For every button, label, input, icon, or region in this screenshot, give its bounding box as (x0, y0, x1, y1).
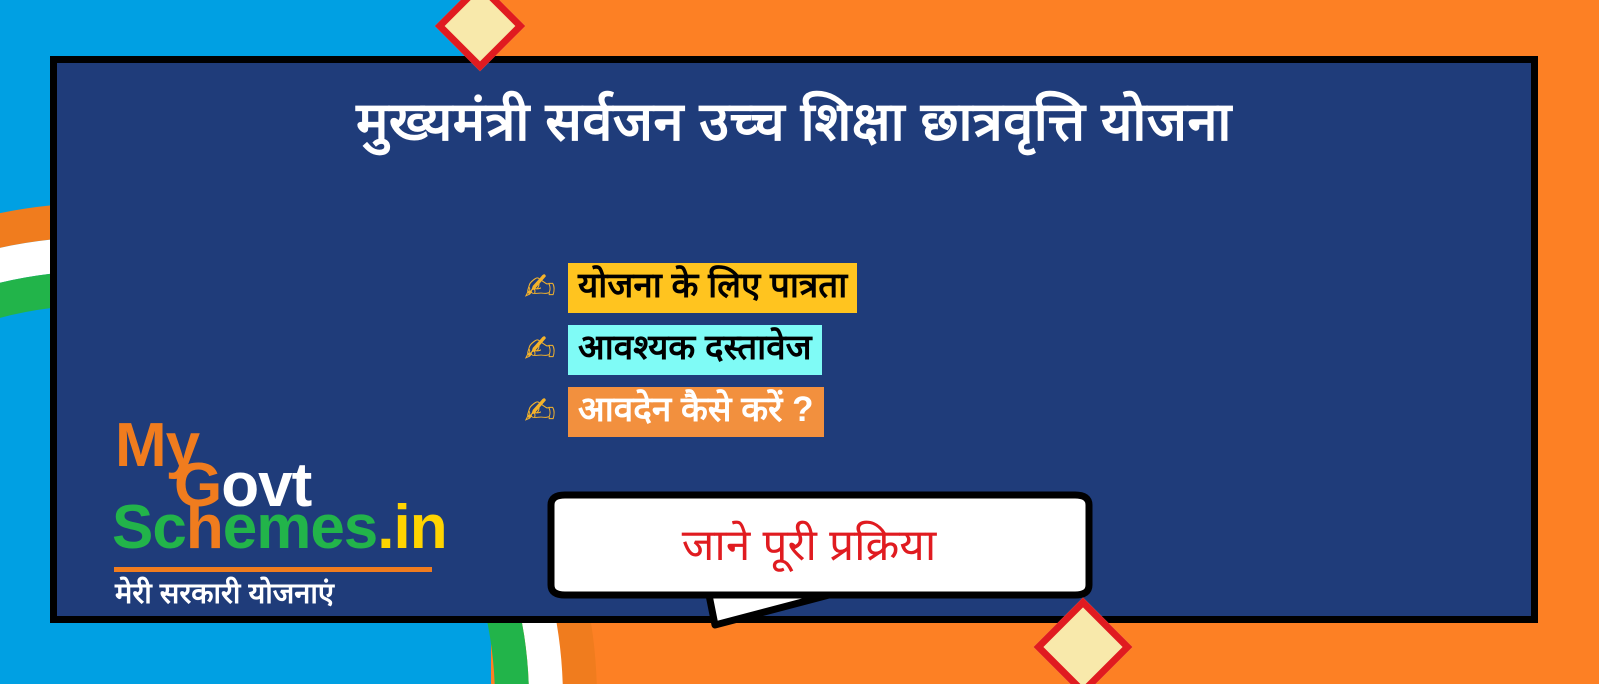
main-panel: मुख्यमंत्री सर्वजन उच्च शिक्षा छात्रवृत्… (50, 56, 1538, 623)
logo-letters-emes: emes (223, 493, 378, 562)
brand-logo[interactable]: My Govt Schemes.in मेरी सरकारी योजनाएं (112, 415, 452, 615)
writing-hand-icon: ✍ (512, 269, 568, 307)
poster-canvas: मुख्यमंत्री सर्वजन उच्च शिक्षा छात्रवृत्… (0, 0, 1599, 684)
list-item-label: आवश्यक दस्तावेज (568, 325, 822, 375)
logo-letters-sc: Sc (112, 493, 186, 562)
writing-hand-icon: ✍ (512, 331, 568, 369)
logo-tld-in: in (394, 493, 447, 562)
list-item[interactable]: ✍ आवश्यक दस्तावेज (512, 325, 1072, 375)
logo-dot: . (377, 493, 393, 562)
logo-divider (114, 567, 432, 572)
callout-bubble-text: जाने पूरी प्रक्रिया (529, 513, 1089, 573)
feature-list: ✍ योजना के लिए पात्रता ✍ आवश्यक दस्तावेज… (512, 263, 1072, 449)
callout-bubble[interactable]: जाने पूरी प्रक्रिया (529, 491, 1129, 631)
logo-letter-h: h (186, 493, 223, 562)
list-item[interactable]: ✍ योजना के लिए पात्रता (512, 263, 1072, 313)
writing-hand-icon: ✍ (512, 393, 568, 431)
list-item[interactable]: ✍ आवदेन कैसे करें ? (512, 387, 1072, 437)
logo-tagline: मेरी सरकारी योजनाएं (115, 573, 334, 612)
page-title: मुख्यमंत्री सर्वजन उच्च शिक्षा छात्रवृत्… (57, 91, 1531, 153)
logo-word-schemes-in: Schemes.in (112, 497, 447, 559)
list-item-label: आवदेन कैसे करें ? (568, 387, 824, 437)
list-item-label: योजना के लिए पात्रता (568, 263, 857, 313)
